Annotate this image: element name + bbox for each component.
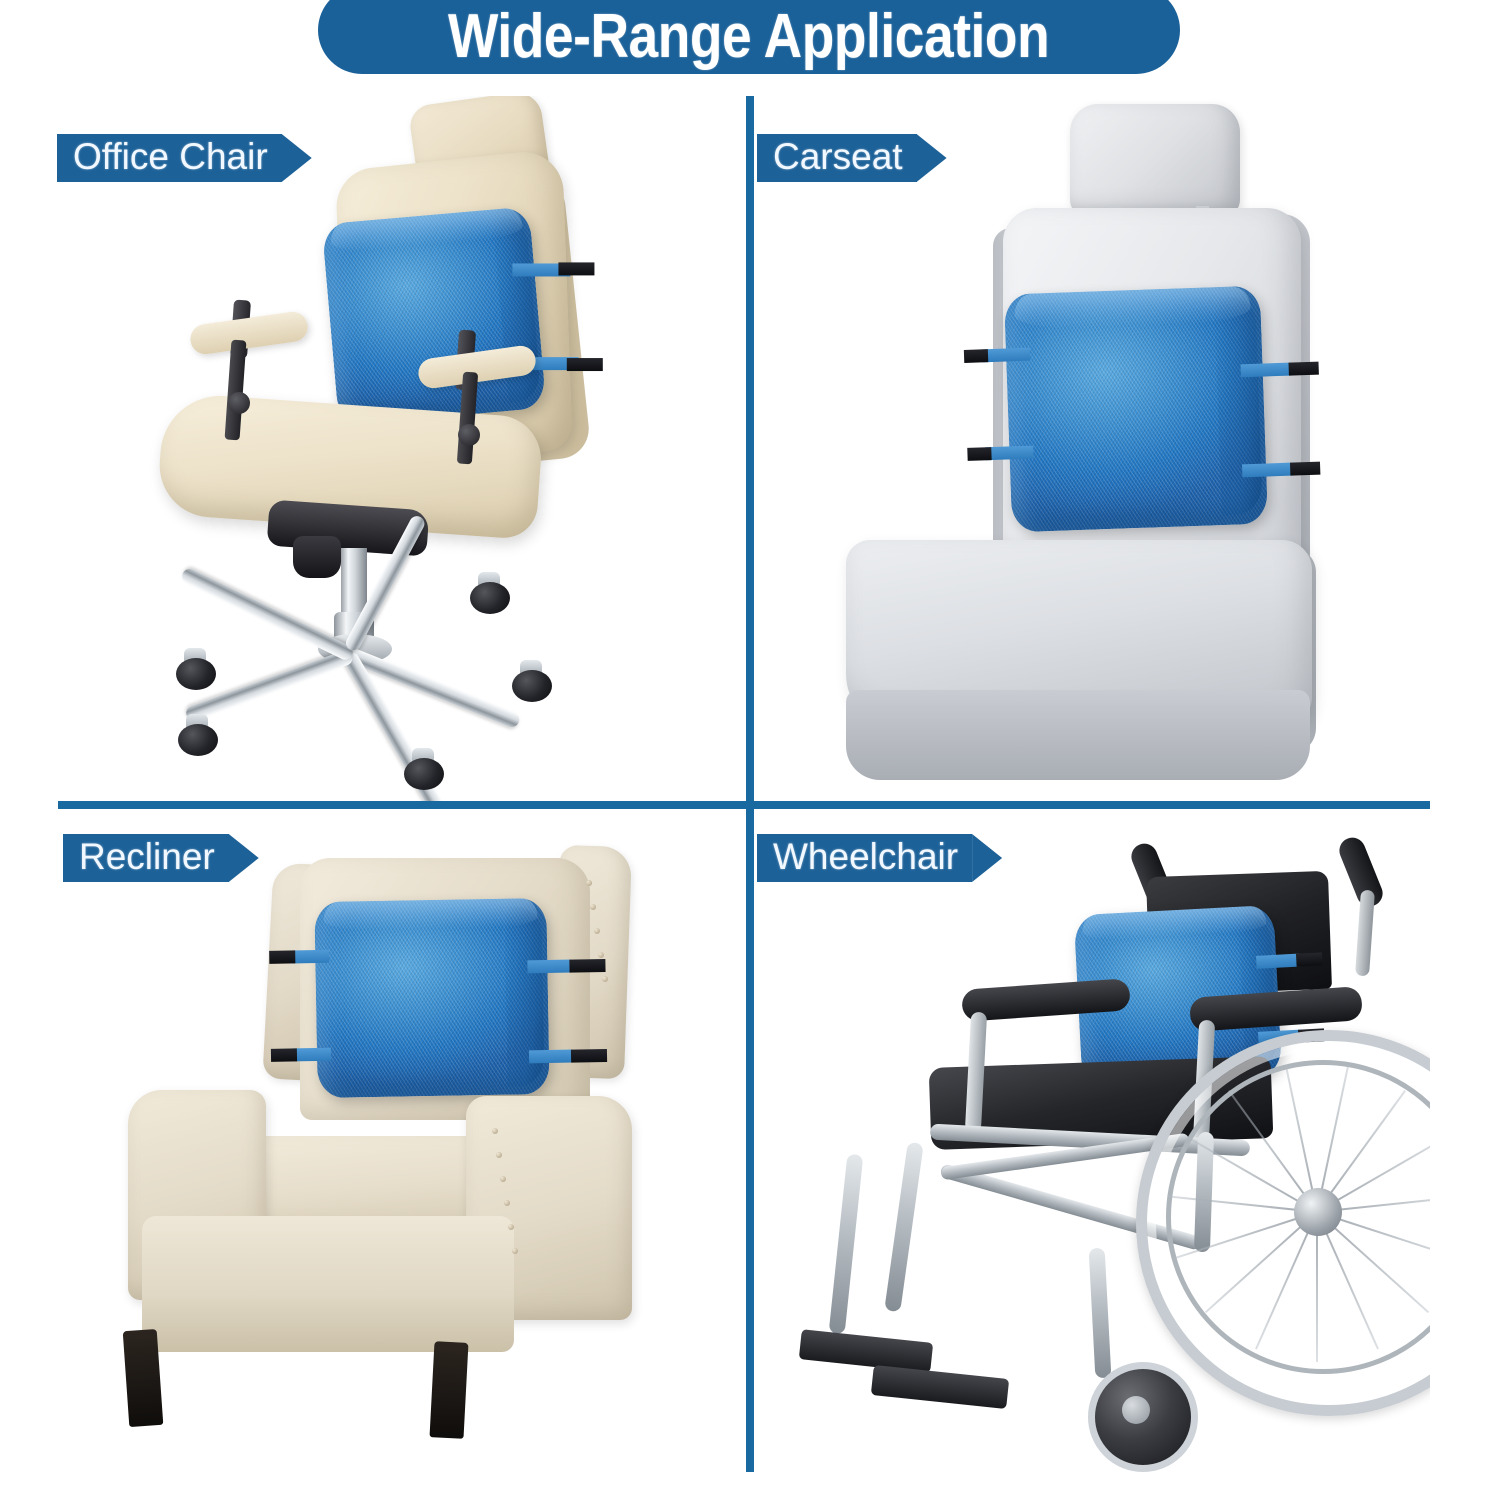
label-carseat: Carseat — [757, 134, 947, 182]
label-text: Carseat — [773, 138, 903, 175]
cushion-strap-upper-left — [982, 348, 1030, 363]
arrow-point-icon — [282, 134, 312, 182]
caster-wheel — [512, 670, 552, 702]
recliner-nailhead-stud — [492, 1128, 498, 1134]
recliner-nailhead-stud — [598, 952, 604, 958]
cushion-strap-lower-left — [293, 1048, 331, 1062]
vertical-divider — [746, 96, 754, 1472]
cushion-strap-upper-elastic — [1296, 952, 1323, 966]
carseat-seat-front — [846, 690, 1310, 780]
office-chair-caster-1 — [178, 714, 218, 756]
quadrant-carseat — [754, 96, 1430, 801]
recliner-nailhead-stud — [602, 976, 608, 982]
arrow-point-icon — [917, 134, 947, 182]
label-text: Office Chair — [73, 138, 268, 175]
cushion-strap-lower-right-elastic — [1290, 462, 1320, 476]
wheelchair-handle-post-right — [1355, 890, 1375, 977]
cushion-strap-lower-left-elastic — [271, 1048, 297, 1061]
recliner-nailhead-stud — [594, 928, 600, 934]
office-chair-caster-3 — [512, 660, 552, 702]
wheelchair-caster-hub — [1122, 1396, 1150, 1424]
recliner-front-panel — [142, 1216, 514, 1352]
cushion-strap-lower-right — [529, 1050, 573, 1064]
office-chair-arm-knob-right — [458, 424, 480, 446]
caster-wheel — [176, 658, 216, 690]
cushion-strap-lower-left — [985, 446, 1033, 461]
cushion-strap-upper-right — [527, 960, 571, 974]
quadrant-wheelchair — [754, 809, 1430, 1472]
office-chair-caster-5 — [470, 572, 510, 614]
cushion-top-highlight — [324, 898, 538, 931]
recliner-nailhead-stud — [586, 880, 592, 886]
recliner-nailhead-stud — [496, 1152, 502, 1158]
lumbar-cushion-carseat — [1004, 286, 1268, 533]
office-chair-tension-knob — [293, 536, 341, 578]
label-body: Carseat — [757, 134, 917, 182]
cushion-strap-upper-left-elastic — [964, 349, 988, 363]
recliner-nailhead-stud — [500, 1176, 506, 1182]
cushion-strap-upper-right-elastic — [1288, 362, 1318, 376]
recliner-nailhead-stud — [590, 904, 596, 910]
office-chair-caster-2 — [404, 748, 444, 790]
arrow-point-icon — [229, 834, 259, 882]
recliner-nailhead-stud — [508, 1224, 514, 1230]
product-application-infographic: Wide-Range Application — [0, 0, 1486, 1486]
cushion-side-edge — [1214, 295, 1263, 515]
wheelchair-frame-footrest-post — [829, 1154, 864, 1335]
cushion-strap-upper-elastic — [558, 262, 594, 275]
lumbar-cushion-recliner — [314, 898, 549, 1098]
horizontal-divider — [58, 801, 1430, 809]
wheelchair-footplate-left — [799, 1329, 933, 1373]
cushion-strap-lower-left-elastic — [967, 447, 991, 461]
office-chair-caster-4 — [176, 648, 216, 690]
cushion-strap-lower-elastic — [567, 358, 603, 371]
cushion-strap-lower-right — [1242, 463, 1294, 478]
quadrant-office-chair — [60, 96, 746, 801]
label-text: Recliner — [79, 838, 215, 875]
label-recliner: Recliner — [63, 834, 259, 882]
caster-wheel — [404, 758, 444, 790]
arrow-point-icon — [972, 834, 1002, 882]
label-body: Wheelchair — [757, 834, 972, 882]
label-wheelchair: Wheelchair — [757, 834, 1002, 882]
label-body: Office Chair — [57, 134, 282, 182]
quadrant-recliner — [60, 809, 746, 1472]
recliner-leg-right — [430, 1341, 469, 1439]
cushion-strap-upper-right — [1241, 363, 1293, 378]
label-office-chair: Office Chair — [57, 134, 312, 182]
office-chair-arm-knob-left — [228, 392, 250, 414]
wheelchair-frame-caster-post — [1089, 1248, 1112, 1379]
label-body: Recliner — [63, 834, 229, 882]
caster-wheel — [178, 724, 218, 756]
recliner-nailhead-stud — [504, 1200, 510, 1206]
title-banner: Wide-Range Application — [318, 0, 1180, 74]
office-chair-armrest-left — [188, 310, 309, 356]
cushion-strap-upper-right-elastic — [569, 959, 605, 973]
page-title: Wide-Range Application — [448, 0, 1049, 72]
wheelchair-footplate-right — [871, 1365, 1009, 1409]
cushion-strap-lower-right-elastic — [571, 1049, 607, 1063]
recliner-leg-left — [123, 1329, 164, 1427]
carseat-headrest — [1070, 104, 1240, 216]
recliner-nailhead-stud — [512, 1248, 518, 1254]
caster-wheel — [470, 582, 510, 614]
cushion-strap-upper-left — [291, 950, 329, 964]
cushion-strap-upper — [1256, 954, 1301, 969]
wheelchair-frame-front-post — [884, 1142, 924, 1313]
wheelchair-wheel-hub — [1294, 1188, 1342, 1236]
lumbar-cushion-office-chair — [322, 206, 547, 425]
cushion-strap-upper-left-elastic — [269, 950, 295, 963]
office-chair-gas-cylinder — [341, 548, 367, 616]
label-text: Wheelchair — [773, 838, 958, 875]
